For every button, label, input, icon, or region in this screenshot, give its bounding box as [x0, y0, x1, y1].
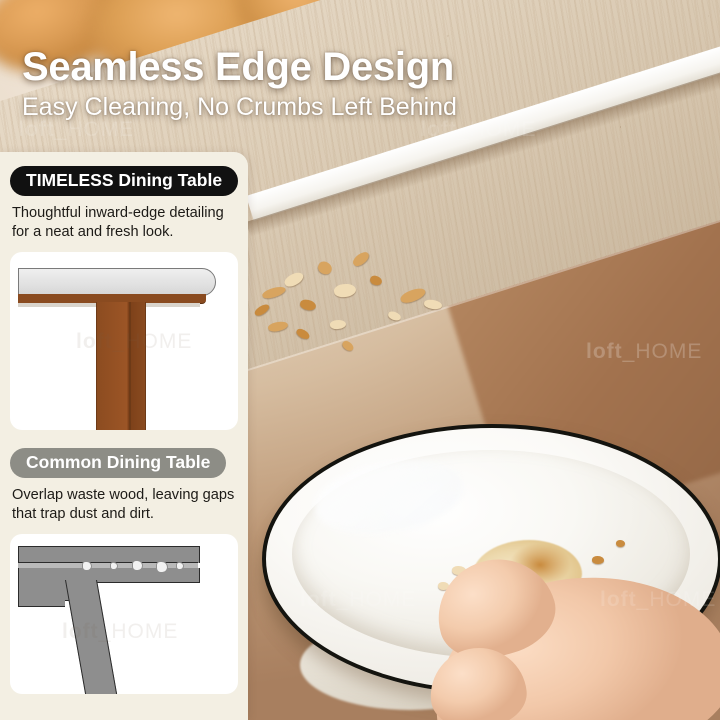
headline-block: Seamless Edge Design Easy Cleaning, No C… [22, 46, 662, 122]
badge-common-dining-table: Common Dining Table [10, 448, 226, 478]
crumb [616, 540, 625, 547]
comparison-block-common: Common Dining Table Overlap waste wood, … [0, 448, 248, 694]
badge-timeless-dining-table: TIMELESS Dining Table [10, 166, 238, 196]
badge-label-rest: Dining Table [114, 170, 223, 190]
badge-label-strong: Common Dining Table [26, 452, 210, 472]
tabletop-seamless-icon [18, 268, 216, 296]
table-leg-angled [65, 580, 118, 694]
badge-label-strong: TIMELESS [26, 170, 114, 190]
table-leg-edge [129, 302, 131, 430]
product-feature-graphic: loft_HOME loft_HOME loft_HOME loft_HOME … [0, 0, 720, 720]
description-common: Overlap waste wood, leaving gaps that tr… [12, 486, 236, 524]
table-leg [96, 302, 146, 430]
diagram-card-timeless: loft_HOME [10, 252, 238, 430]
comparison-block-timeless: TIMELESS Dining Table Thoughtful inward-… [0, 152, 248, 430]
tabletop-lower-slab [18, 568, 200, 583]
diagram-card-common: loft_HOME [10, 534, 238, 694]
table-apron-notch [18, 582, 65, 607]
comparison-panel: TIMELESS Dining Table Thoughtful inward-… [0, 152, 248, 720]
tabletop-upper-slab-icon [18, 546, 200, 563]
crumb [592, 556, 604, 564]
description-timeless: Thoughtful inward-edge detailing for a n… [12, 204, 236, 242]
page-title: Seamless Edge Design [22, 46, 662, 88]
watermark-suffix: _HOME [99, 620, 179, 643]
page-subtitle: Easy Cleaning, No Crumbs Left Behind [22, 94, 662, 122]
